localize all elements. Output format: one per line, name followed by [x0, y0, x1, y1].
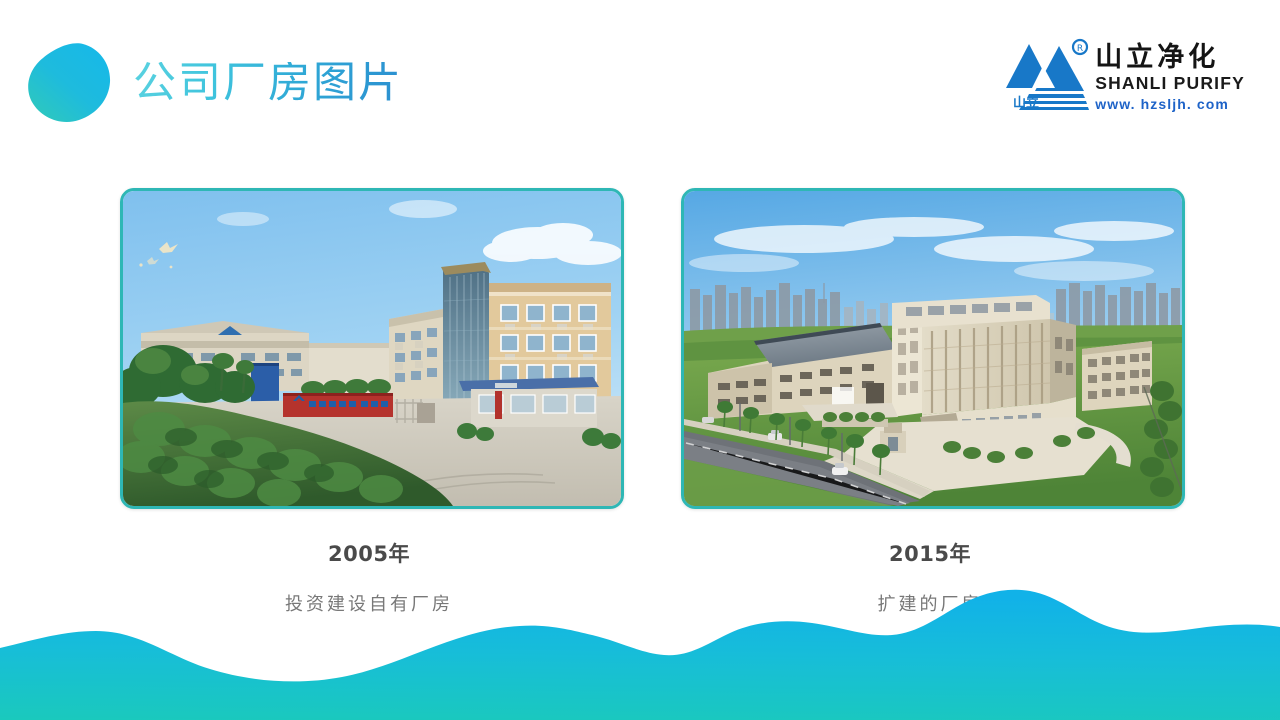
caption-year-right: 2015年	[681, 538, 1179, 568]
factory-photo-2005[interactable]	[120, 188, 624, 509]
company-logo: R 山立 山立净化 SHANLI PURIFY www. hzsljh. com	[999, 36, 1245, 114]
logo-text-block: 山立净化 SHANLI PURIFY www. hzsljh. com	[1095, 36, 1245, 113]
mountain-logo-mark: R 山立	[999, 36, 1091, 114]
blob-shape	[27, 42, 111, 124]
page-title: 公司厂房图片	[133, 62, 403, 105]
svg-text:山立: 山立	[1013, 95, 1039, 111]
logo-company-en: SHANLI PURIFY	[1095, 73, 1245, 94]
logo-website: www. hzsljh. com	[1095, 96, 1245, 113]
svg-text:R: R	[1077, 44, 1083, 54]
bottom-wave	[0, 585, 1280, 720]
logo-company-cn: 山立净化	[1095, 44, 1245, 72]
factory-photo-2015[interactable]	[681, 188, 1185, 509]
slide-root: 公司厂房图片 R 山立 山立净化 SHANLI	[0, 0, 1280, 720]
caption-year-left: 2005年	[120, 538, 618, 568]
